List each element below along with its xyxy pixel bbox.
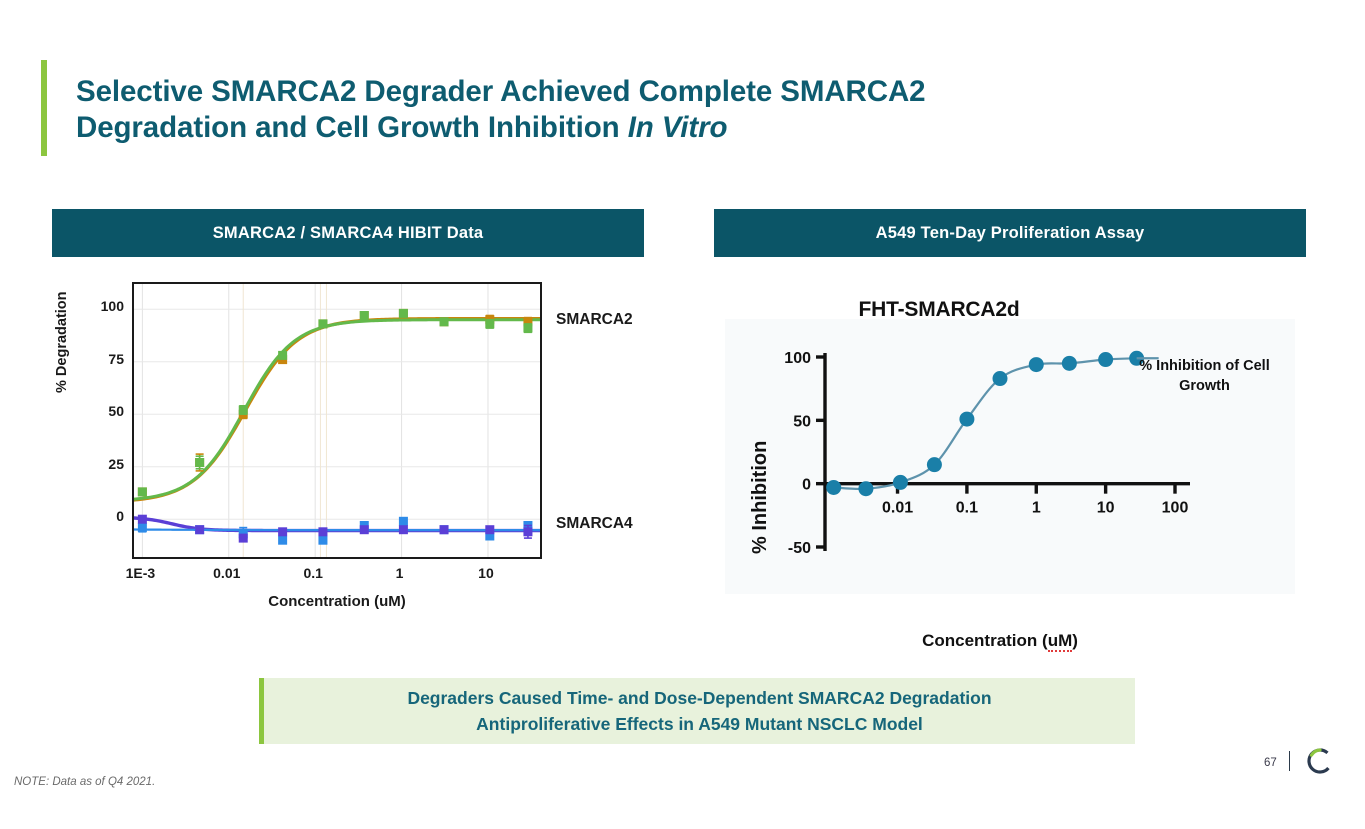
hibit-plot-area bbox=[132, 282, 542, 559]
proliferation-chart: FHT-SMARCA2d % Inhibition 100500-500.010… bbox=[714, 276, 1314, 636]
page-title-line1: Selective SMARCA2 Degrader Achieved Comp… bbox=[76, 75, 925, 108]
proliferation-y-tick: 0 bbox=[802, 477, 811, 494]
hibit-x-axis-label: Concentration (uM) bbox=[132, 593, 542, 610]
proliferation-x-axis-label: Concentration (uM) bbox=[835, 631, 1165, 651]
proliferation-x-tick: 0.1 bbox=[956, 500, 978, 517]
proliferation-y-tick: -50 bbox=[788, 540, 811, 557]
panel-header-proliferation: A549 Ten-Day Proliferation Assay bbox=[714, 209, 1306, 257]
hibit-y-tick: 50 bbox=[84, 403, 124, 419]
page-divider bbox=[1289, 751, 1290, 771]
proliferation-x-tick: 10 bbox=[1097, 500, 1115, 517]
hibit-x-tick: 0.1 bbox=[303, 565, 322, 581]
page-title-line2: Degradation and Cell Growth Inhibition bbox=[76, 111, 628, 144]
hibit-x-tick: 1 bbox=[396, 565, 404, 581]
proliferation-y-axis-label: % Inhibition bbox=[749, 441, 772, 554]
page-title-line2-italic: In Vitro bbox=[628, 111, 728, 144]
footnote: NOTE: Data as of Q4 2021. bbox=[14, 776, 155, 788]
proliferation-x-tick: 0.01 bbox=[882, 500, 913, 517]
proliferation-annotation: % Inhibition of Cell Growth bbox=[1112, 356, 1297, 396]
conclusion-banner-text: Degraders Caused Time- and Dose-Dependen… bbox=[264, 678, 1135, 744]
panel-header-proliferation-label: A549 Ten-Day Proliferation Assay bbox=[876, 224, 1145, 243]
panel-header-hibit-label: SMARCA2 / SMARCA4 HIBIT Data bbox=[213, 224, 484, 243]
hibit-x-tick: 1E-3 bbox=[126, 565, 156, 581]
proliferation-y-tick: 50 bbox=[793, 413, 811, 430]
proliferation-y-tick: 100 bbox=[784, 350, 811, 367]
hibit-y-tick: 75 bbox=[84, 351, 124, 367]
title-accent-bar bbox=[41, 60, 47, 156]
proliferation-x-axis-label-text: Concentration (uM) bbox=[922, 631, 1078, 652]
panel-header-hibit: SMARCA2 / SMARCA4 HIBIT Data bbox=[52, 209, 644, 257]
slide-root: Selective SMARCA2 Degrader Achieved Comp… bbox=[0, 0, 1365, 829]
proliferation-x-tick: 1 bbox=[1032, 500, 1041, 517]
hibit-y-tick: 0 bbox=[84, 508, 124, 524]
proliferation-x-tick: 100 bbox=[1162, 500, 1189, 517]
page-number: 67 bbox=[1264, 757, 1277, 769]
company-logo-icon bbox=[1303, 744, 1337, 778]
hibit-y-ticks: 1007550250 bbox=[80, 275, 124, 555]
hibit-y-axis-label: % Degradation bbox=[54, 291, 70, 393]
hibit-y-tick: 25 bbox=[84, 456, 124, 472]
conclusion-line1: Degraders Caused Time- and Dose-Dependen… bbox=[407, 685, 991, 711]
hibit-y-tick: 100 bbox=[84, 298, 124, 314]
hibit-plot-svg bbox=[134, 284, 540, 557]
hibit-chart: % Degradation 1007550250 1E-30.010.1110 … bbox=[60, 275, 650, 555]
hibit-series-label-smarca2: SMARCA2 bbox=[556, 311, 633, 329]
hibit-x-tick: 10 bbox=[478, 565, 494, 581]
conclusion-line2: Antiproliferative Effects in A549 Mutant… bbox=[476, 711, 923, 737]
hibit-series-label-smarca4: SMARCA4 bbox=[556, 515, 633, 533]
hibit-x-tick: 0.01 bbox=[213, 565, 240, 581]
page-title: Selective SMARCA2 Degrader Achieved Comp… bbox=[76, 74, 1156, 146]
hibit-x-ticks: 1E-30.010.1110 bbox=[132, 565, 542, 587]
